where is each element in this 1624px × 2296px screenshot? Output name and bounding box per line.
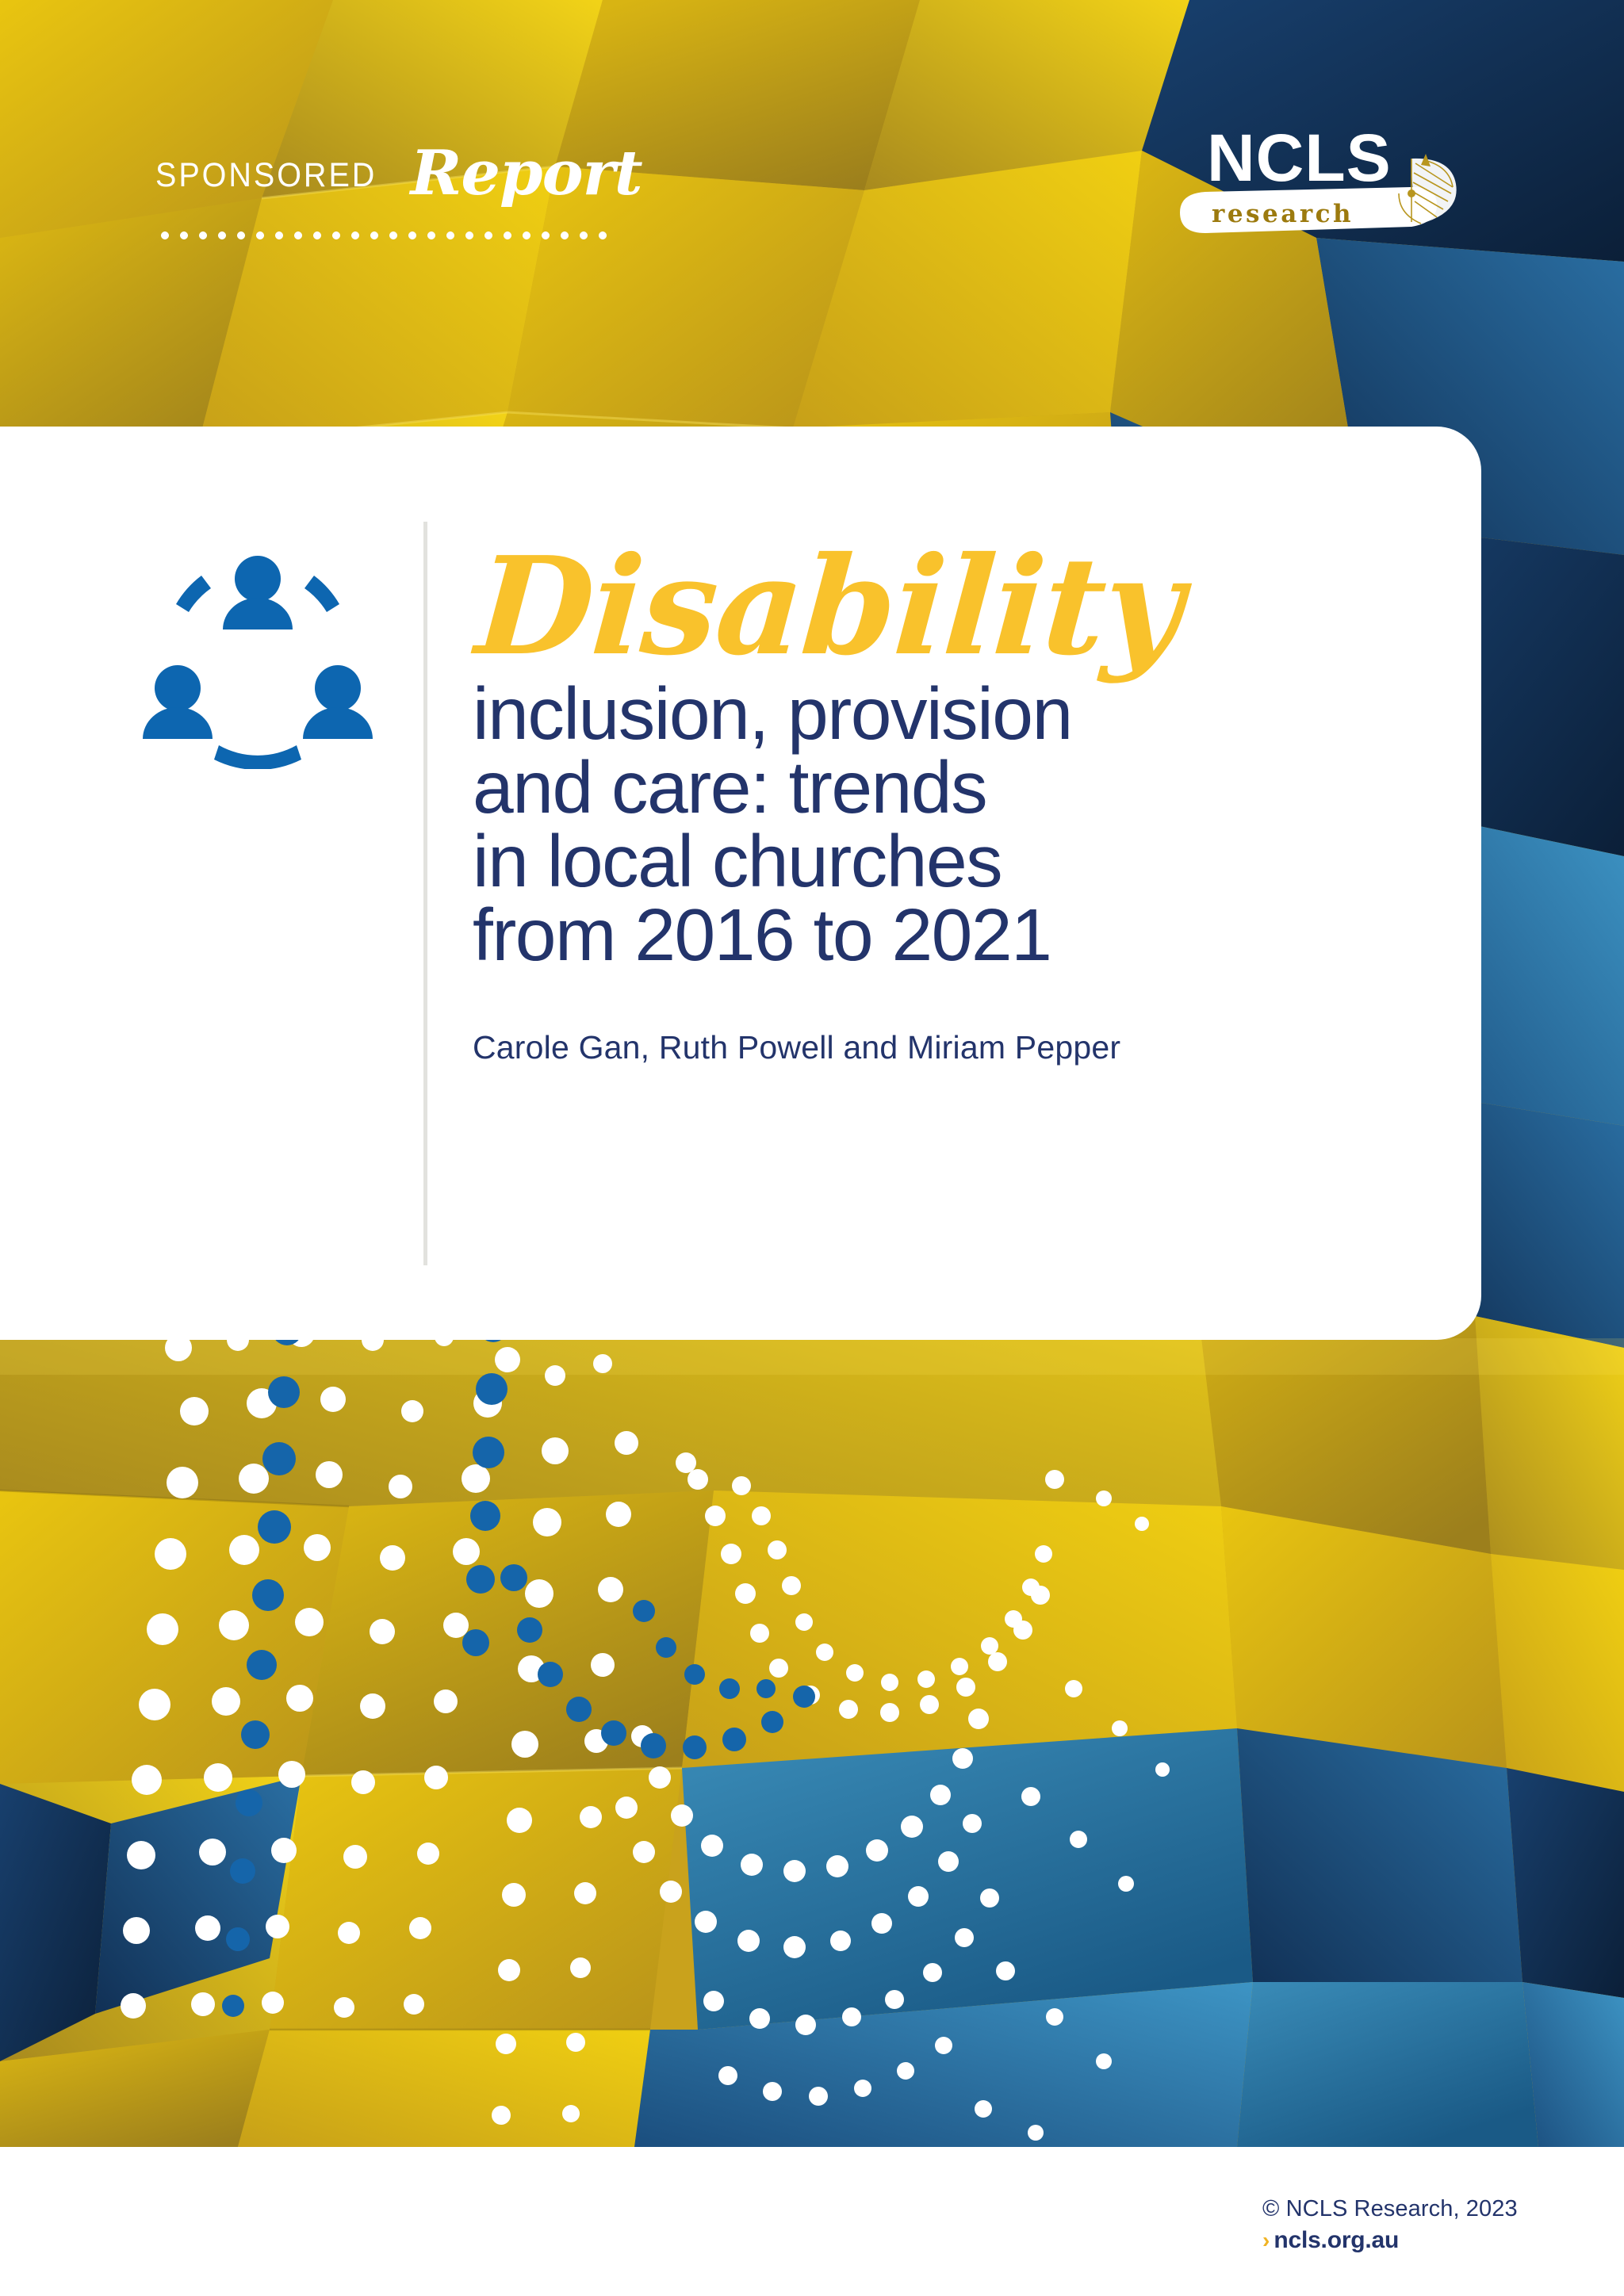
ncls-wordmark: NCLS bbox=[1207, 121, 1392, 195]
website-url[interactable]: ncls.org.au bbox=[1274, 2227, 1399, 2254]
research-wordmark: research bbox=[1212, 200, 1354, 228]
report-label: Report bbox=[411, 149, 642, 198]
title-block: Disability inclusion, provision and care… bbox=[473, 544, 1456, 1066]
footer: © NCLS Research, 2023 › ncls.org.au bbox=[1262, 2196, 1595, 2254]
authors-line: Carole Gan, Ruth Powell and Miriam Peppe… bbox=[473, 1029, 1456, 1066]
title-divider-line bbox=[423, 522, 427, 1265]
copyright-text: © NCLS Research, 2023 bbox=[1262, 2196, 1595, 2222]
report-cover-page: SPONSORED Report NCLS research bbox=[0, 0, 1624, 2296]
chevron-right-icon: › bbox=[1262, 2229, 1270, 2252]
sponsored-label: SPONSORED bbox=[155, 156, 377, 195]
sponsored-report-header: SPONSORED Report bbox=[155, 141, 663, 239]
title-script-word: Disability bbox=[473, 544, 1465, 671]
ncls-research-logo: NCLS research bbox=[1174, 111, 1491, 254]
three-people-circle-icon bbox=[143, 547, 373, 769]
page-title: inclusion, provision and care: trends in… bbox=[473, 677, 1456, 972]
dotted-divider bbox=[155, 232, 615, 239]
